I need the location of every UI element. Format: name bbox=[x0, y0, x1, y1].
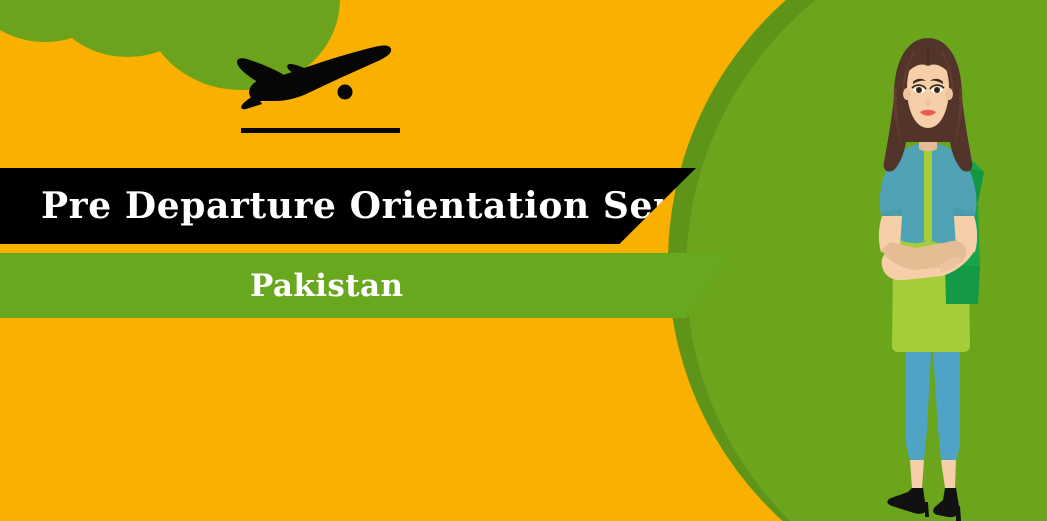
page-subtitle: Pakistan bbox=[250, 268, 403, 304]
airplane-takeoff-icon bbox=[232, 42, 412, 120]
page-title: Pre Departure Orientation Seminar bbox=[41, 185, 776, 227]
title-band: Pre Departure Orientation Seminar bbox=[0, 168, 696, 244]
subtitle-band: Pakistan bbox=[0, 253, 730, 318]
airplane-group bbox=[232, 42, 412, 142]
woman-illustration bbox=[828, 36, 1028, 521]
runway-line bbox=[241, 128, 400, 133]
banner-root: Pre Departure Orientation Seminar Pakist… bbox=[0, 0, 1047, 521]
woman-illustration-svg bbox=[828, 36, 1028, 521]
